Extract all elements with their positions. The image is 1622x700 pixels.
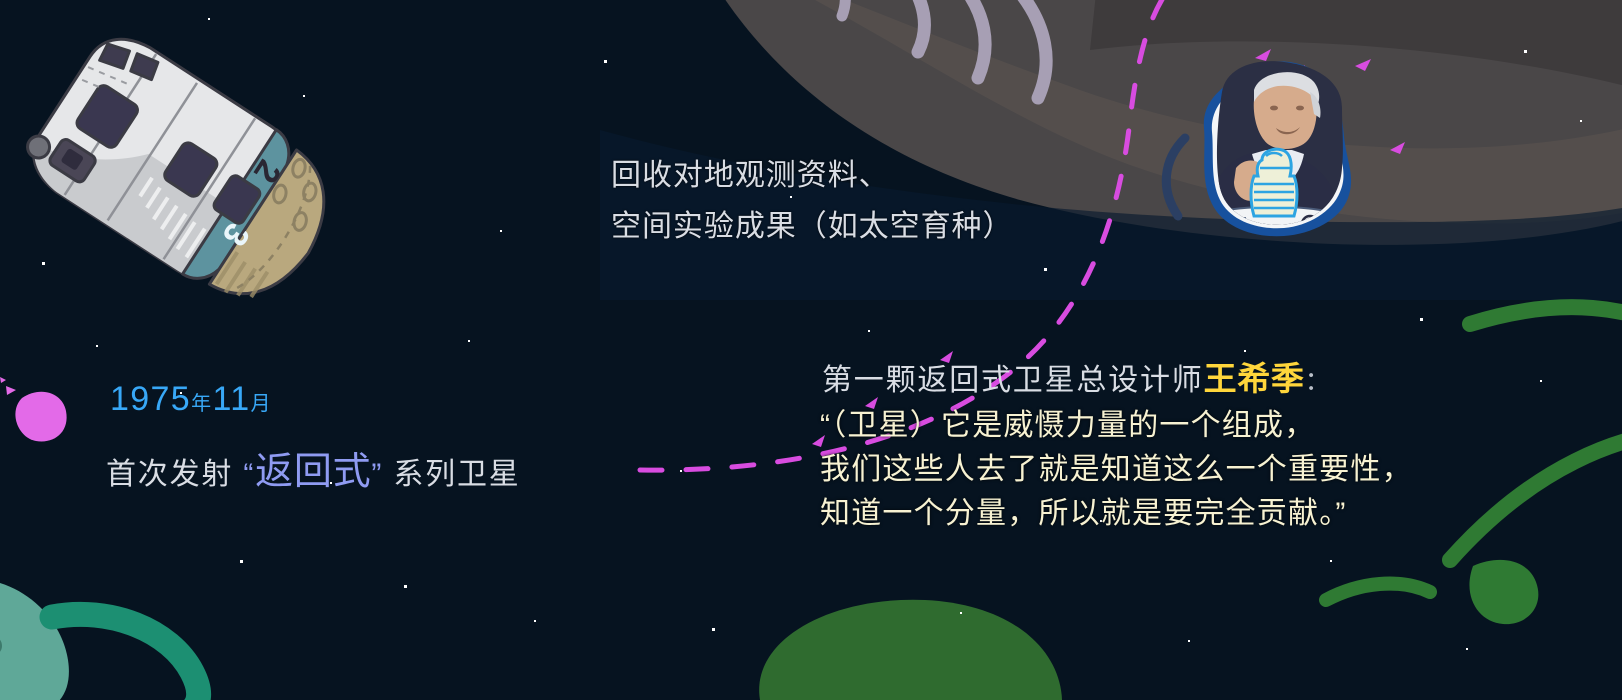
quote-open-mark: “ bbox=[243, 458, 255, 491]
designer-credit-line: 第一颗返回式卫星总设计师王希季： bbox=[822, 352, 1332, 400]
portrait-photo bbox=[1192, 56, 1368, 248]
launch-month: 11 bbox=[212, 380, 250, 418]
launch-date-line: 1975年11月 bbox=[110, 380, 272, 419]
designer-role: 第一颗返回式卫星总设计师 bbox=[822, 364, 1204, 397]
quote-close-mark: ” bbox=[371, 458, 383, 491]
month-unit: 月 bbox=[250, 393, 271, 415]
quote-line-3: 知道一个分量，所以就是要完全贡献。” bbox=[820, 492, 1413, 536]
designer-name: 王希季 bbox=[1204, 360, 1305, 397]
launch-year: 1975 bbox=[110, 380, 191, 418]
launch-suffix: 系列卫星 bbox=[393, 458, 520, 491]
launch-series-highlight: 返回式 bbox=[255, 451, 371, 493]
launch-prefix: 首次发射 bbox=[106, 458, 233, 491]
return-capsule-illustration: 2 3 bbox=[0, 0, 1622, 700]
illustration-canvas: 2 3 bbox=[0, 0, 1622, 700]
observation-text-block: 回收对地观测资料、 空间实验成果（如太空育种） bbox=[611, 150, 1013, 252]
designer-colon: ： bbox=[1305, 366, 1333, 396]
launch-description-line: 首次发射 “返回式” 系列卫星 bbox=[106, 440, 521, 495]
observation-line-2: 空间实验成果（如太空育种） bbox=[611, 201, 1013, 252]
quote-line-1: “（卫星）它是威慑力量的一个组成， bbox=[820, 404, 1413, 448]
year-unit: 年 bbox=[191, 393, 212, 415]
quote-line-2: 我们这些人去了就是知道这么一个重要性， bbox=[820, 448, 1413, 492]
scientist-portrait-sticker bbox=[1192, 56, 1368, 248]
portrait-blob-frame bbox=[1192, 56, 1368, 248]
observation-line-1: 回收对地观测资料、 bbox=[611, 150, 1013, 201]
quotation-block: “（卫星）它是威慑力量的一个组成， 我们这些人去了就是知道这么一个重要性， 知道… bbox=[820, 404, 1413, 536]
